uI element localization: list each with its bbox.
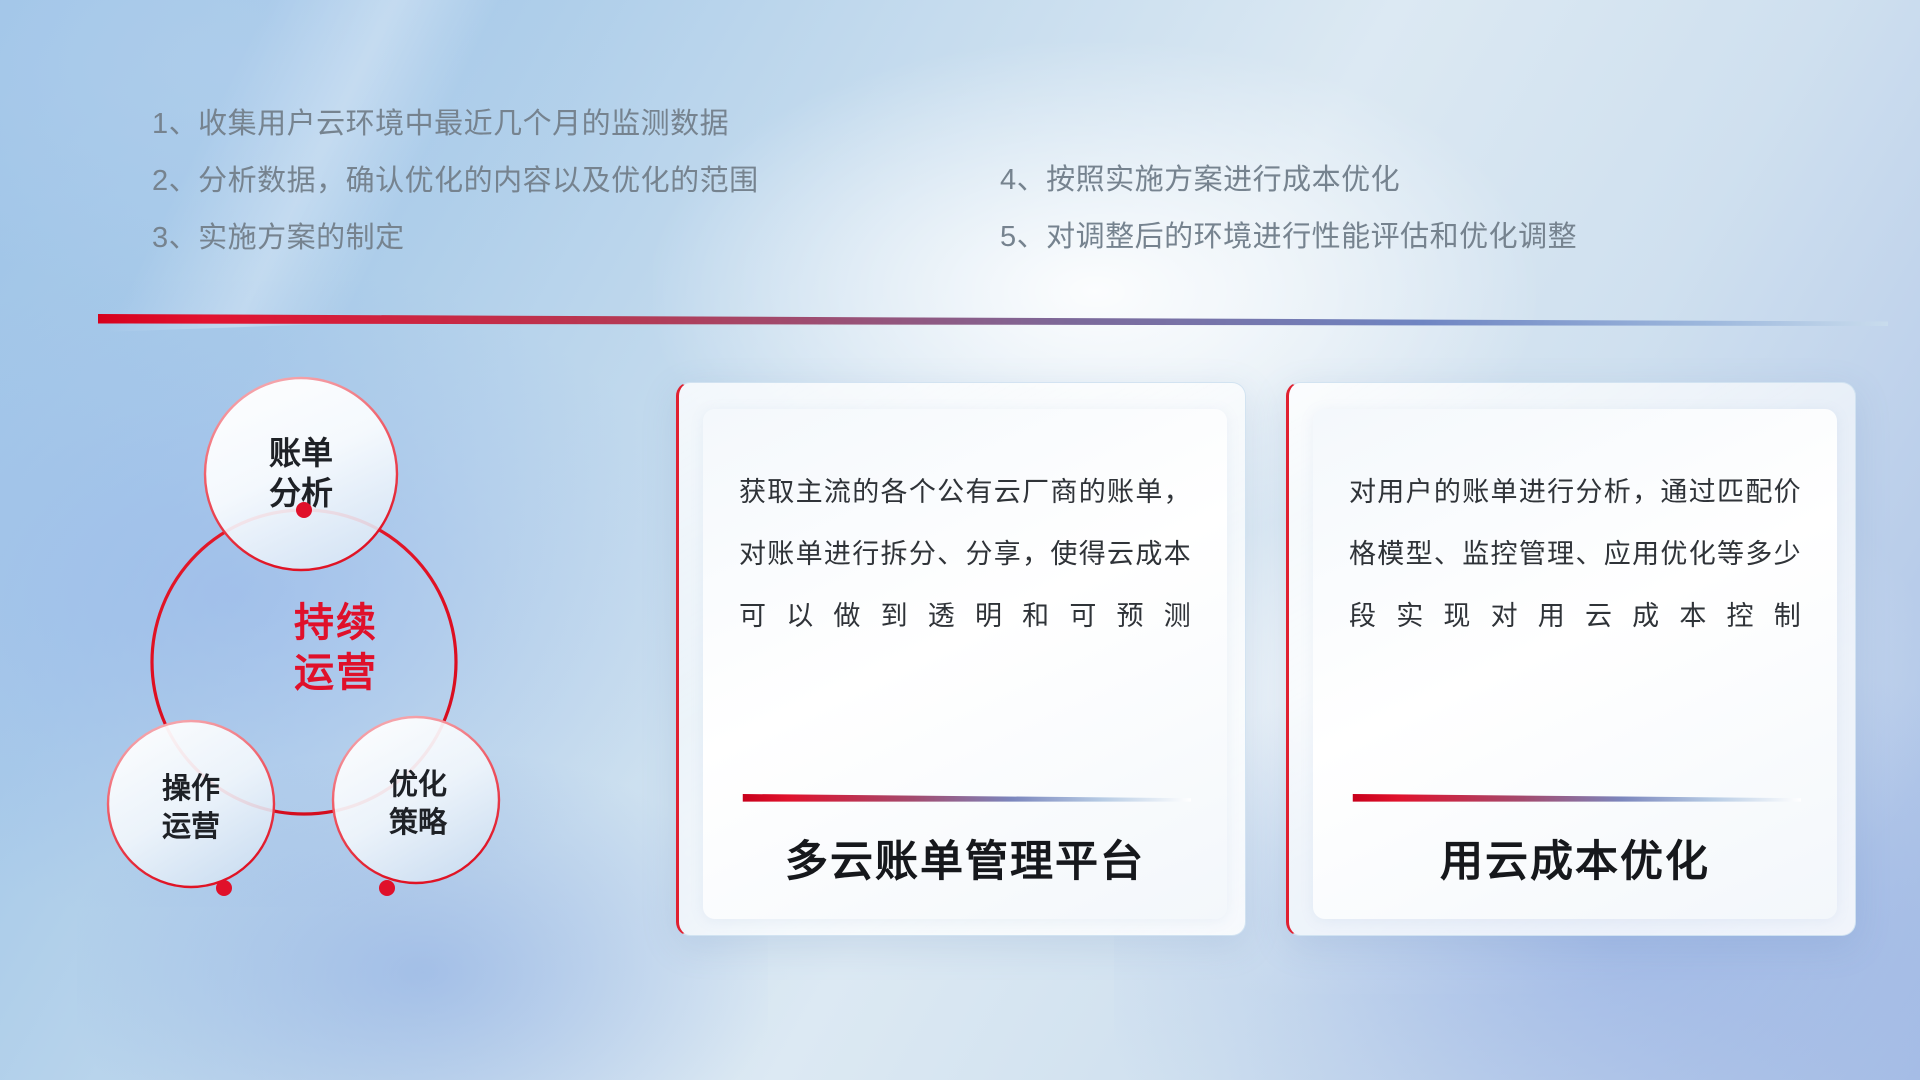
steps-left-column: 1、收集用户云环境中最近几个月的监测数据 2、分析数据，确认优化的内容以及优化的… xyxy=(152,96,759,267)
venn-center-label: 持续 运营 xyxy=(294,601,378,695)
venn-node-bottom-left xyxy=(216,880,232,896)
card-title: 多云账单管理平台 xyxy=(739,827,1191,889)
venn-bottom-left-label-line2: 运营 xyxy=(162,810,220,843)
section-divider xyxy=(98,312,1888,330)
venn-circle-top: 账单 分析 xyxy=(205,378,397,570)
venn-center-label-line2: 运营 xyxy=(294,651,378,695)
venn-center-label-line1: 持续 xyxy=(294,601,378,645)
step-item-2: 2、分析数据，确认优化的内容以及优化的范围 xyxy=(152,153,759,210)
steps-right-column: 4、按照实施方案进行成本优化 5、对调整后的环境进行性能评估和优化调整 xyxy=(1000,152,1577,266)
venn-node-bottom-right xyxy=(379,880,395,896)
card-inner: 获取主流的各个公有云厂商的账单，对账单进行拆分、分享，使得云成本可以做到透明和可… xyxy=(703,409,1227,919)
venn-top-label-line1: 账单 xyxy=(269,435,333,471)
step-item-3: 3、实施方案的制定 xyxy=(152,210,759,267)
card-cloud-cost-optimization[interactable]: 对用户的账单进行分析，通过匹配价格模型、监控管理、应用优化等多少段实现对用云成本… xyxy=(1286,382,1856,936)
card-divider xyxy=(739,790,1191,801)
venn-bottom-right-label-line2: 策略 xyxy=(389,805,448,839)
card-body-text: 获取主流的各个公有云厂商的账单，对账单进行拆分、分享，使得云成本可以做到透明和可… xyxy=(739,461,1191,647)
venn-bottom-left-label-line1: 操作 xyxy=(162,772,220,805)
card-title: 用云成本优化 xyxy=(1349,827,1801,889)
step-item-5: 5、对调整后的环境进行性能评估和优化调整 xyxy=(1000,209,1577,266)
card-body-text: 对用户的账单进行分析，通过匹配价格模型、监控管理、应用优化等多少段实现对用云成本… xyxy=(1349,461,1801,647)
card-inner: 对用户的账单进行分析，通过匹配价格模型、监控管理、应用优化等多少段实现对用云成本… xyxy=(1313,409,1837,919)
step-item-1: 1、收集用户云环境中最近几个月的监测数据 xyxy=(152,96,759,153)
venn-diagram: 账单 分析 操作 运营 优化 策略 持续 运营 xyxy=(96,352,596,952)
card-multicloud-billing[interactable]: 获取主流的各个公有云厂商的账单，对账单进行拆分、分享，使得云成本可以做到透明和可… xyxy=(676,382,1246,936)
card-divider xyxy=(1349,790,1801,801)
step-item-4: 4、按照实施方案进行成本优化 xyxy=(1000,152,1577,209)
venn-bottom-right-label-line1: 优化 xyxy=(389,768,447,801)
venn-circle-bottom-left: 操作 运营 xyxy=(108,721,274,887)
steps-section: 1、收集用户云环境中最近几个月的监测数据 2、分析数据，确认优化的内容以及优化的… xyxy=(0,0,1920,300)
venn-node-top xyxy=(296,502,312,518)
venn-circle-bottom-right: 优化 策略 xyxy=(333,717,499,883)
